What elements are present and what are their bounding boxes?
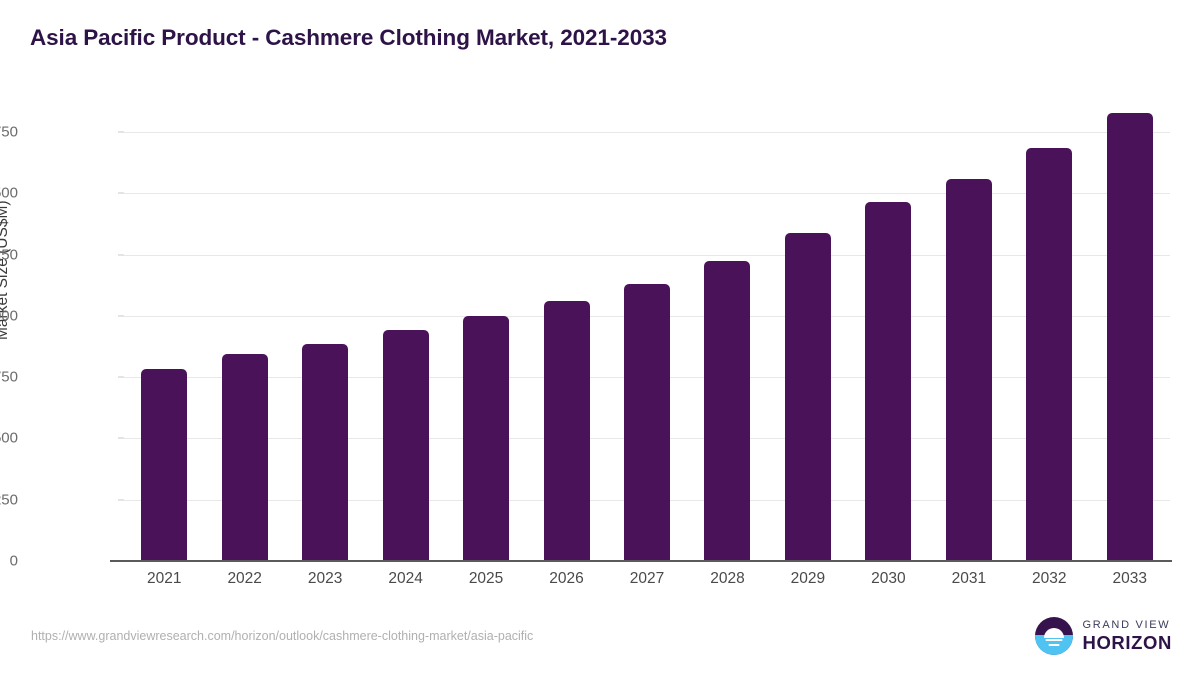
y-axis-tick-label: 0 bbox=[0, 553, 18, 570]
logo-dome-shape bbox=[1044, 628, 1064, 638]
bar[interactable] bbox=[141, 369, 187, 561]
bar[interactable] bbox=[1026, 148, 1072, 561]
bar[interactable] bbox=[946, 179, 992, 561]
plot-area bbox=[124, 132, 1170, 561]
x-axis-line bbox=[110, 560, 1172, 562]
bar[interactable] bbox=[383, 330, 429, 561]
bar[interactable] bbox=[624, 284, 670, 561]
x-axis-tick-label: 2029 bbox=[768, 570, 848, 588]
x-axis-tick-label: 2028 bbox=[687, 570, 767, 588]
y-axis-tick-label: 1250 bbox=[0, 246, 18, 263]
bar[interactable] bbox=[1107, 113, 1153, 561]
y-axis-tick-label: 1000 bbox=[0, 307, 18, 324]
bar[interactable] bbox=[785, 233, 831, 561]
y-axis-tick-label: 1500 bbox=[0, 185, 18, 202]
logo-text: GRAND VIEW HORIZON bbox=[1082, 620, 1172, 653]
source-url[interactable]: https://www.grandviewresearch.com/horizo… bbox=[31, 629, 533, 643]
brand-logo: GRAND VIEW HORIZON bbox=[1035, 617, 1172, 655]
y-axis-tick-label: 750 bbox=[0, 369, 18, 386]
x-axis-tick-label: 2025 bbox=[446, 570, 526, 588]
x-axis-tick-label: 2027 bbox=[607, 570, 687, 588]
horizon-sun-circle-icon bbox=[1035, 617, 1073, 655]
bar[interactable] bbox=[544, 301, 590, 561]
x-axis-tick-label: 2033 bbox=[1090, 570, 1170, 588]
bar[interactable] bbox=[463, 316, 509, 561]
y-axis-tick-label: 250 bbox=[0, 491, 18, 508]
y-axis-tick-label: 1750 bbox=[0, 124, 18, 141]
x-axis-tick-label: 2022 bbox=[205, 570, 285, 588]
y-axis-tick-label: 500 bbox=[0, 430, 18, 447]
page-title: Asia Pacific Product - Cashmere Clothing… bbox=[30, 25, 667, 51]
bar[interactable] bbox=[704, 261, 750, 561]
bar[interactable] bbox=[302, 344, 348, 561]
chart-page: Asia Pacific Product - Cashmere Clothing… bbox=[0, 0, 1200, 675]
x-axis-tick-label: 2032 bbox=[1009, 570, 1089, 588]
gridline bbox=[124, 132, 1170, 133]
gridline bbox=[124, 193, 1170, 194]
x-axis-tick-label: 2021 bbox=[124, 570, 204, 588]
x-axis-tick-label: 2023 bbox=[285, 570, 365, 588]
logo-ray-upper bbox=[1046, 639, 1063, 641]
x-axis-tick-label: 2024 bbox=[366, 570, 446, 588]
x-axis-tick-label: 2026 bbox=[527, 570, 607, 588]
x-axis-tick-label: 2031 bbox=[929, 570, 1009, 588]
bar[interactable] bbox=[865, 202, 911, 561]
x-axis-tick-label: 2030 bbox=[848, 570, 928, 588]
logo-bottom-text: HORIZON bbox=[1082, 634, 1172, 653]
gridline bbox=[124, 255, 1170, 256]
logo-ray-lower bbox=[1049, 644, 1060, 646]
logo-top-text: GRAND VIEW bbox=[1082, 620, 1172, 631]
bar[interactable] bbox=[222, 354, 268, 561]
